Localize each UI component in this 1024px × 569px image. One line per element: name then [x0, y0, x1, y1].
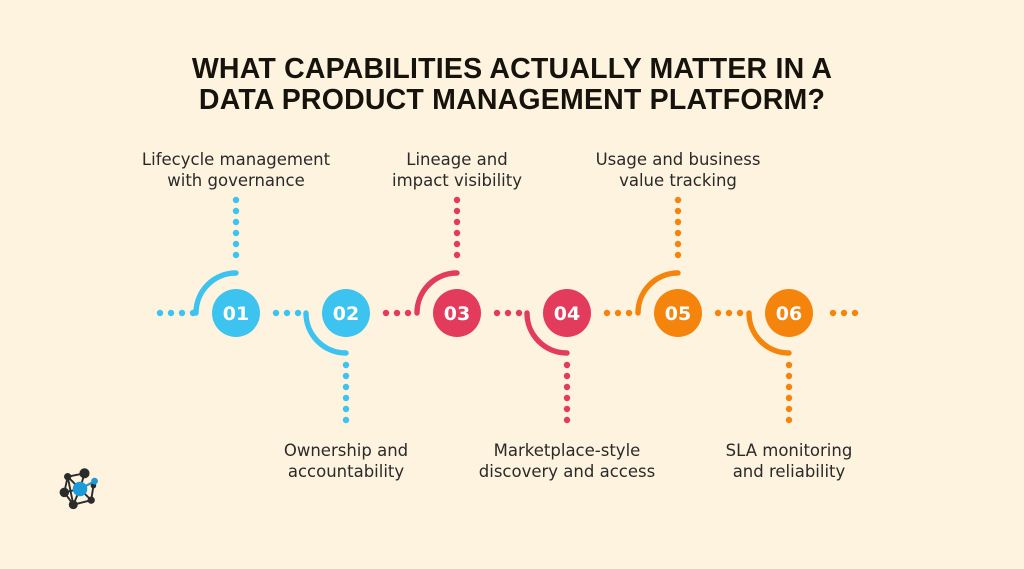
track-dot	[295, 310, 301, 316]
step-number-04: 04	[554, 303, 580, 325]
stem-dot	[233, 230, 239, 236]
stem-dot	[786, 362, 792, 368]
caption-line-2: value tracking	[548, 170, 808, 191]
stem-dot	[343, 417, 349, 423]
stem-dot	[454, 252, 460, 258]
stem-dot	[675, 208, 681, 214]
stem-dot	[675, 219, 681, 225]
step-number-03: 03	[444, 303, 470, 325]
stem-dot	[786, 406, 792, 412]
track-dot	[505, 310, 511, 316]
caption-line-2: and reliability	[659, 461, 919, 482]
timeline-dotted-tracks	[157, 310, 858, 316]
stem-dot	[564, 406, 570, 412]
timeline-dotted-stems	[233, 197, 792, 423]
track-dot	[841, 310, 847, 316]
track-dot	[604, 310, 610, 316]
stem-dot	[675, 252, 681, 258]
stem-dot	[786, 373, 792, 379]
caption-line-1: Marketplace-style	[437, 440, 697, 461]
network-graph-logo	[52, 461, 108, 517]
track-dot	[726, 310, 732, 316]
track-dot	[394, 310, 400, 316]
track-dot	[615, 310, 621, 316]
step-number-06: 06	[776, 303, 802, 325]
stem-dot	[454, 230, 460, 236]
caption-line-1: SLA monitoring	[659, 440, 919, 461]
track-dot	[516, 310, 522, 316]
stem-dot	[343, 362, 349, 368]
track-dot	[273, 310, 279, 316]
stem-dot	[454, 208, 460, 214]
step-caption-04: Marketplace-stylediscovery and access	[437, 440, 697, 482]
stem-dot	[564, 395, 570, 401]
track-dot	[168, 310, 174, 316]
stem-dot	[786, 417, 792, 423]
stem-dot	[343, 384, 349, 390]
track-dot	[157, 310, 163, 316]
track-dot	[626, 310, 632, 316]
track-dot	[405, 310, 411, 316]
track-dot	[494, 310, 500, 316]
stem-dot	[786, 395, 792, 401]
stem-dot	[343, 406, 349, 412]
stem-dot	[564, 384, 570, 390]
track-dot	[830, 310, 836, 316]
stem-dot	[233, 252, 239, 258]
caption-line-2: discovery and access	[437, 461, 697, 482]
timeline-graphic: 010203040506	[0, 0, 1024, 569]
stem-dot	[454, 197, 460, 203]
stem-dot	[786, 384, 792, 390]
stem-dot	[675, 241, 681, 247]
caption-line-1: Usage and business	[548, 149, 808, 170]
track-dot	[179, 310, 185, 316]
infographic-canvas: What capabilities actually matter in a d…	[0, 0, 1024, 569]
step-caption-05: Usage and businessvalue tracking	[548, 149, 808, 191]
stem-dot	[454, 219, 460, 225]
step-number-02: 02	[333, 303, 359, 325]
track-dot	[284, 310, 290, 316]
step-caption-06: SLA monitoringand reliability	[659, 440, 919, 482]
stem-dot	[233, 208, 239, 214]
step-number-05: 05	[665, 303, 691, 325]
stem-dot	[343, 373, 349, 379]
stem-dot	[233, 197, 239, 203]
stem-dot	[233, 219, 239, 225]
step-number-01: 01	[223, 303, 249, 325]
stem-dot	[564, 373, 570, 379]
stem-dot	[343, 395, 349, 401]
stem-dot	[675, 197, 681, 203]
track-dot	[383, 310, 389, 316]
track-dot	[715, 310, 721, 316]
stem-dot	[233, 241, 239, 247]
timeline-step-nodes: 010203040506	[212, 289, 813, 337]
track-dot	[852, 310, 858, 316]
logo-accent-node	[91, 478, 98, 485]
stem-dot	[564, 417, 570, 423]
stem-dot	[675, 230, 681, 236]
stem-dot	[454, 241, 460, 247]
stem-dot	[564, 362, 570, 368]
track-dot	[737, 310, 743, 316]
